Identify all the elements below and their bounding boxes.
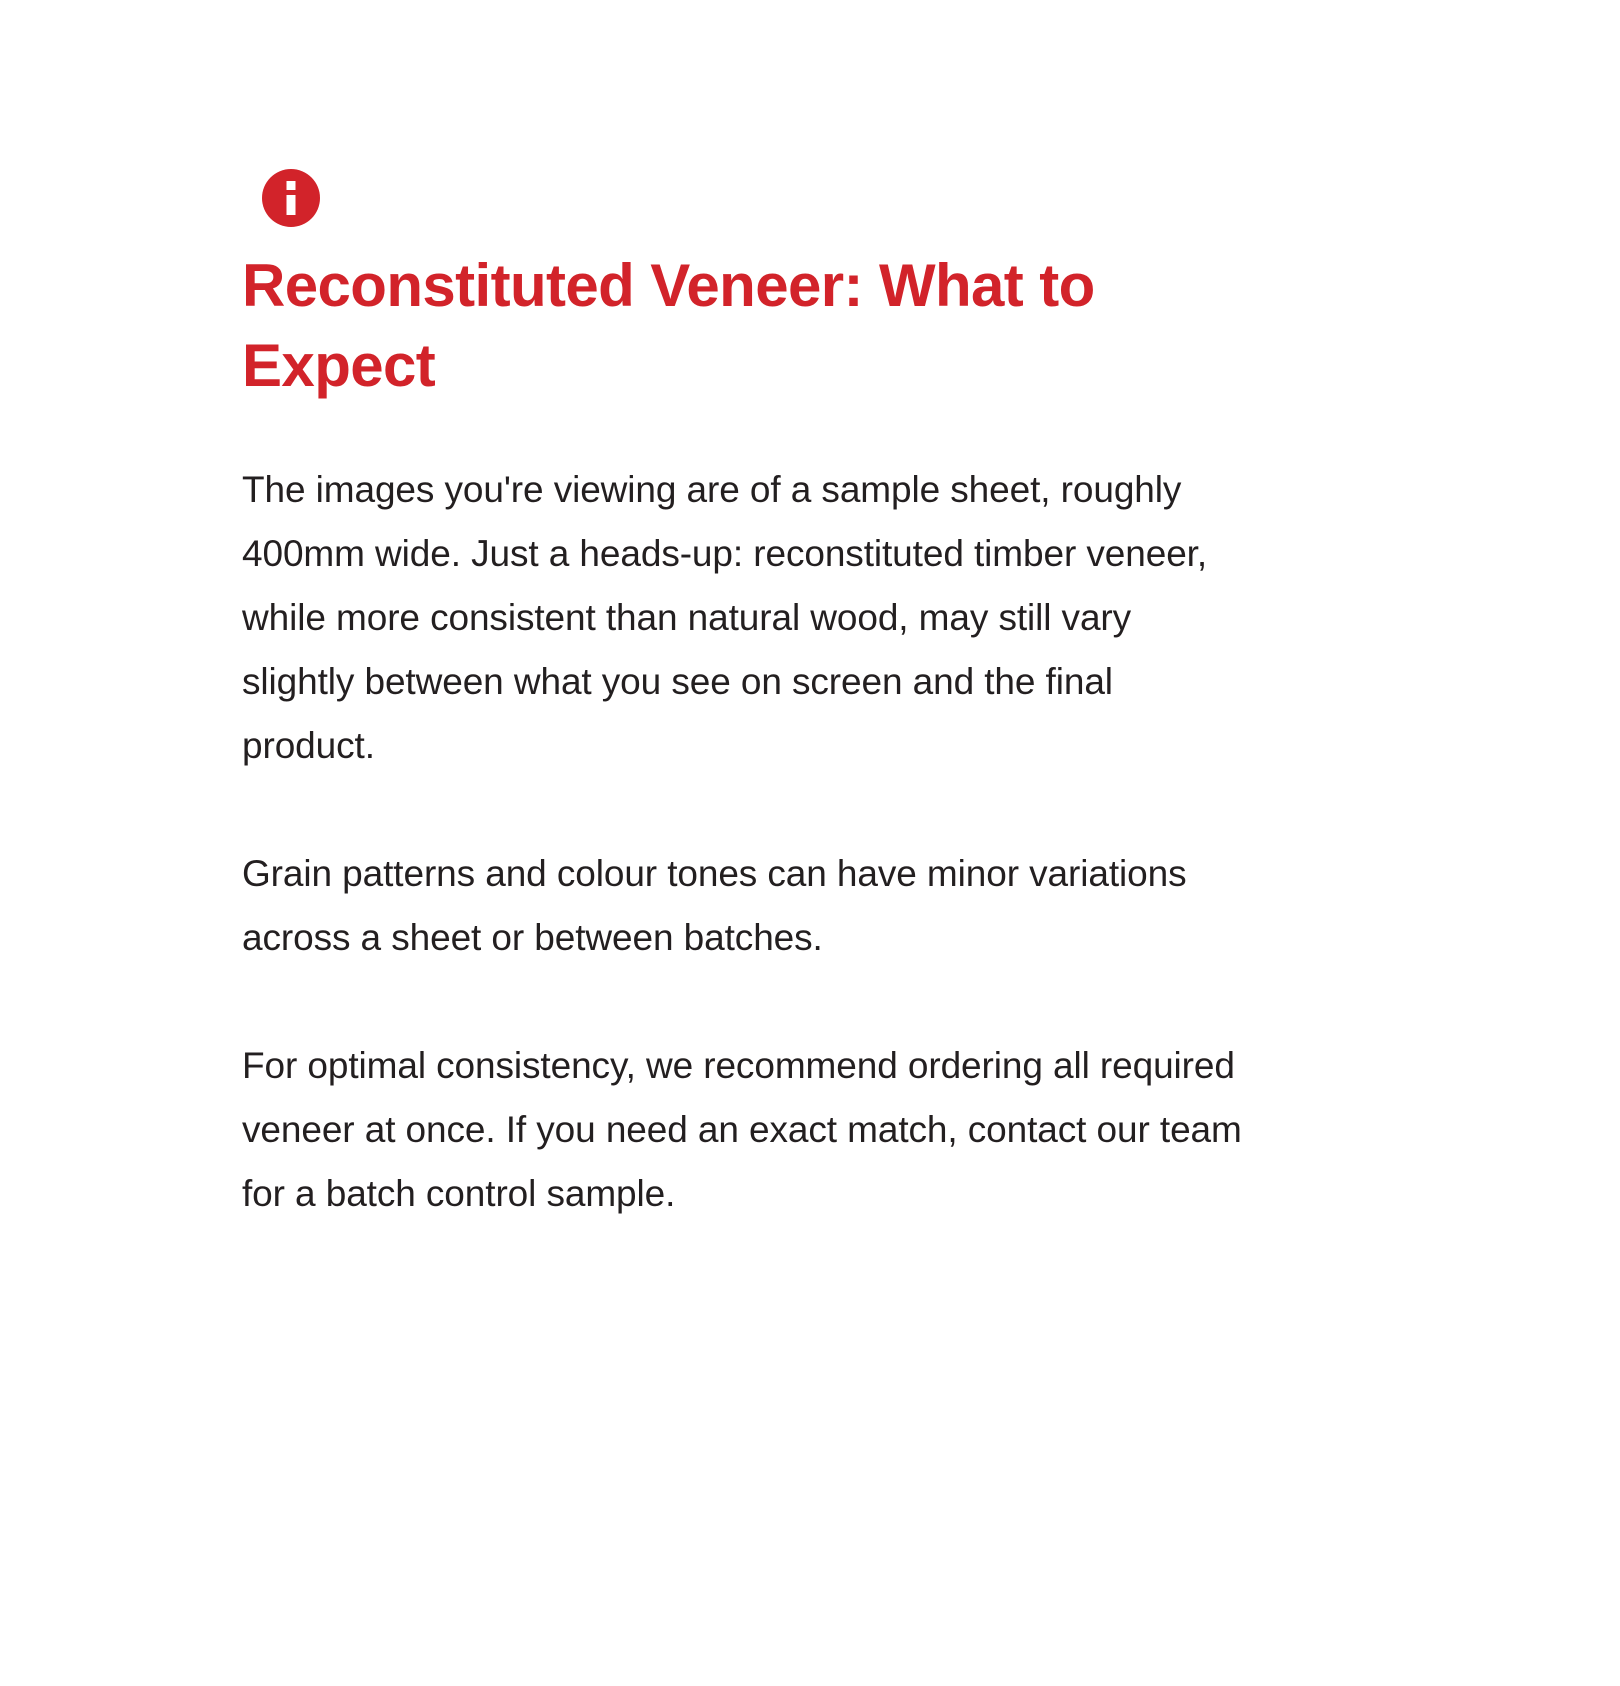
info-icon <box>262 169 320 227</box>
reconstituted-veneer-notice: Reconstituted Veneer: What to Expect The… <box>242 150 1242 1226</box>
info-icon-stem <box>287 195 296 215</box>
notice-paragraph-1: The images you're viewing are of a sampl… <box>242 458 1242 778</box>
notice-body: The images you're viewing are of a sampl… <box>242 458 1242 1226</box>
info-icon-dot <box>287 181 296 190</box>
notice-icon-row <box>242 150 1242 246</box>
notice-paragraph-2: Grain patterns and colour tones can have… <box>242 842 1242 970</box>
notice-paragraph-3: For optimal consistency, we recommend or… <box>242 1034 1242 1226</box>
page-root: Reconstituted Veneer: What to Expect The… <box>0 0 1620 1686</box>
page-title: Reconstituted Veneer: What to Expect <box>242 246 1242 406</box>
